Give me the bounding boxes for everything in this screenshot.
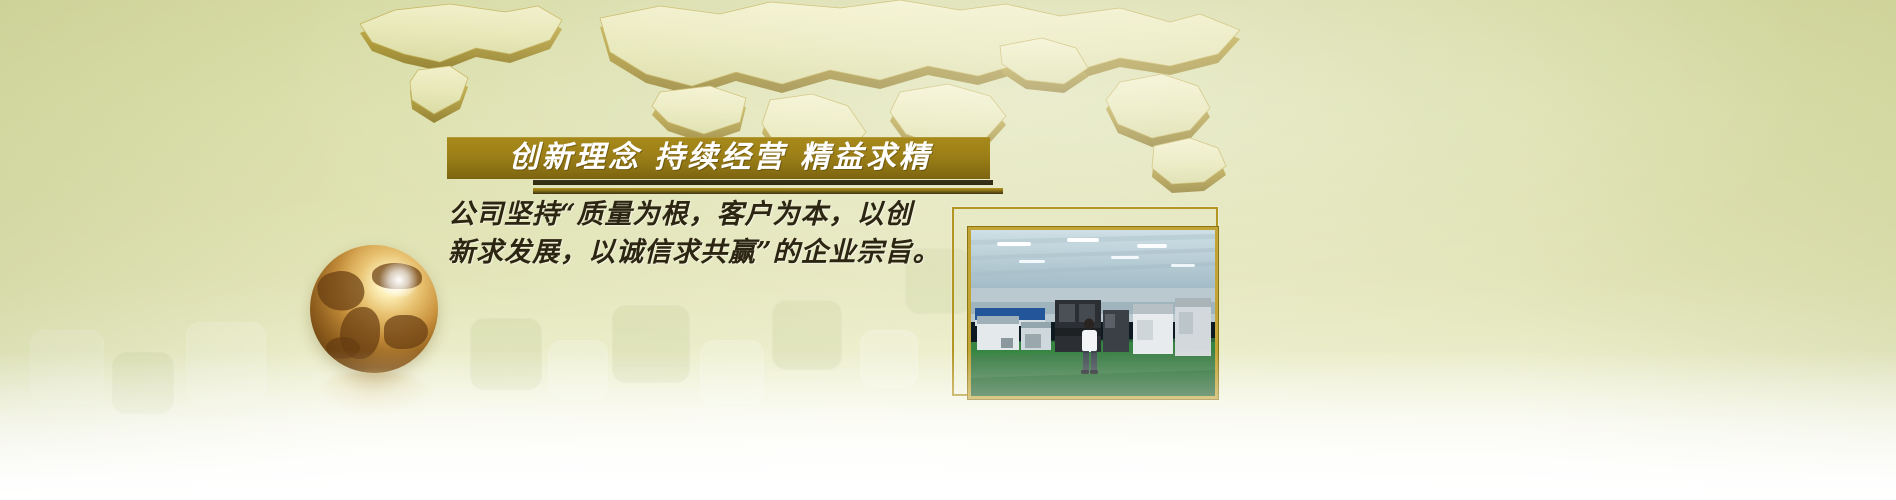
headline-band: 创新理念 持续经营 精益求精 [447,137,990,179]
subtitle-block: 公司坚持“质量为根，客户为本，以创 新求发展，以诚信求共赢”的企业宗旨。 [448,196,968,273]
subtitle-line-1: 公司坚持“质量为根，客户为本，以创 [448,196,968,234]
bottom-fade-overlay [0,350,1896,500]
company-culture-banner: 创新理念 持续经营 精益求精 公司坚持“质量为根，客户为本，以创 新求发展，以诚… [0,0,1896,500]
decor-square [860,330,918,388]
headline-text: 创新理念 持续经营 精益求精 [505,143,932,173]
decor-square [772,300,842,370]
globe-reflection [318,371,430,413]
decor-square [548,340,608,400]
decor-square [112,352,174,414]
globe-shading [310,245,438,373]
decor-square [30,330,104,404]
decor-square [186,322,266,402]
decor-square [470,318,542,390]
decor-square [700,340,764,404]
factory-workshop-photo [968,227,1218,399]
decor-square [612,305,690,383]
subtitle-line-2: 新求发展，以诚信求共赢”的企业宗旨。 [448,234,968,272]
photo-outer-frame [952,207,1218,396]
divider-rule-lower [533,188,1003,194]
divider-rule-upper [533,180,993,185]
globe-sphere [310,245,438,373]
golden-globe [300,245,450,405]
